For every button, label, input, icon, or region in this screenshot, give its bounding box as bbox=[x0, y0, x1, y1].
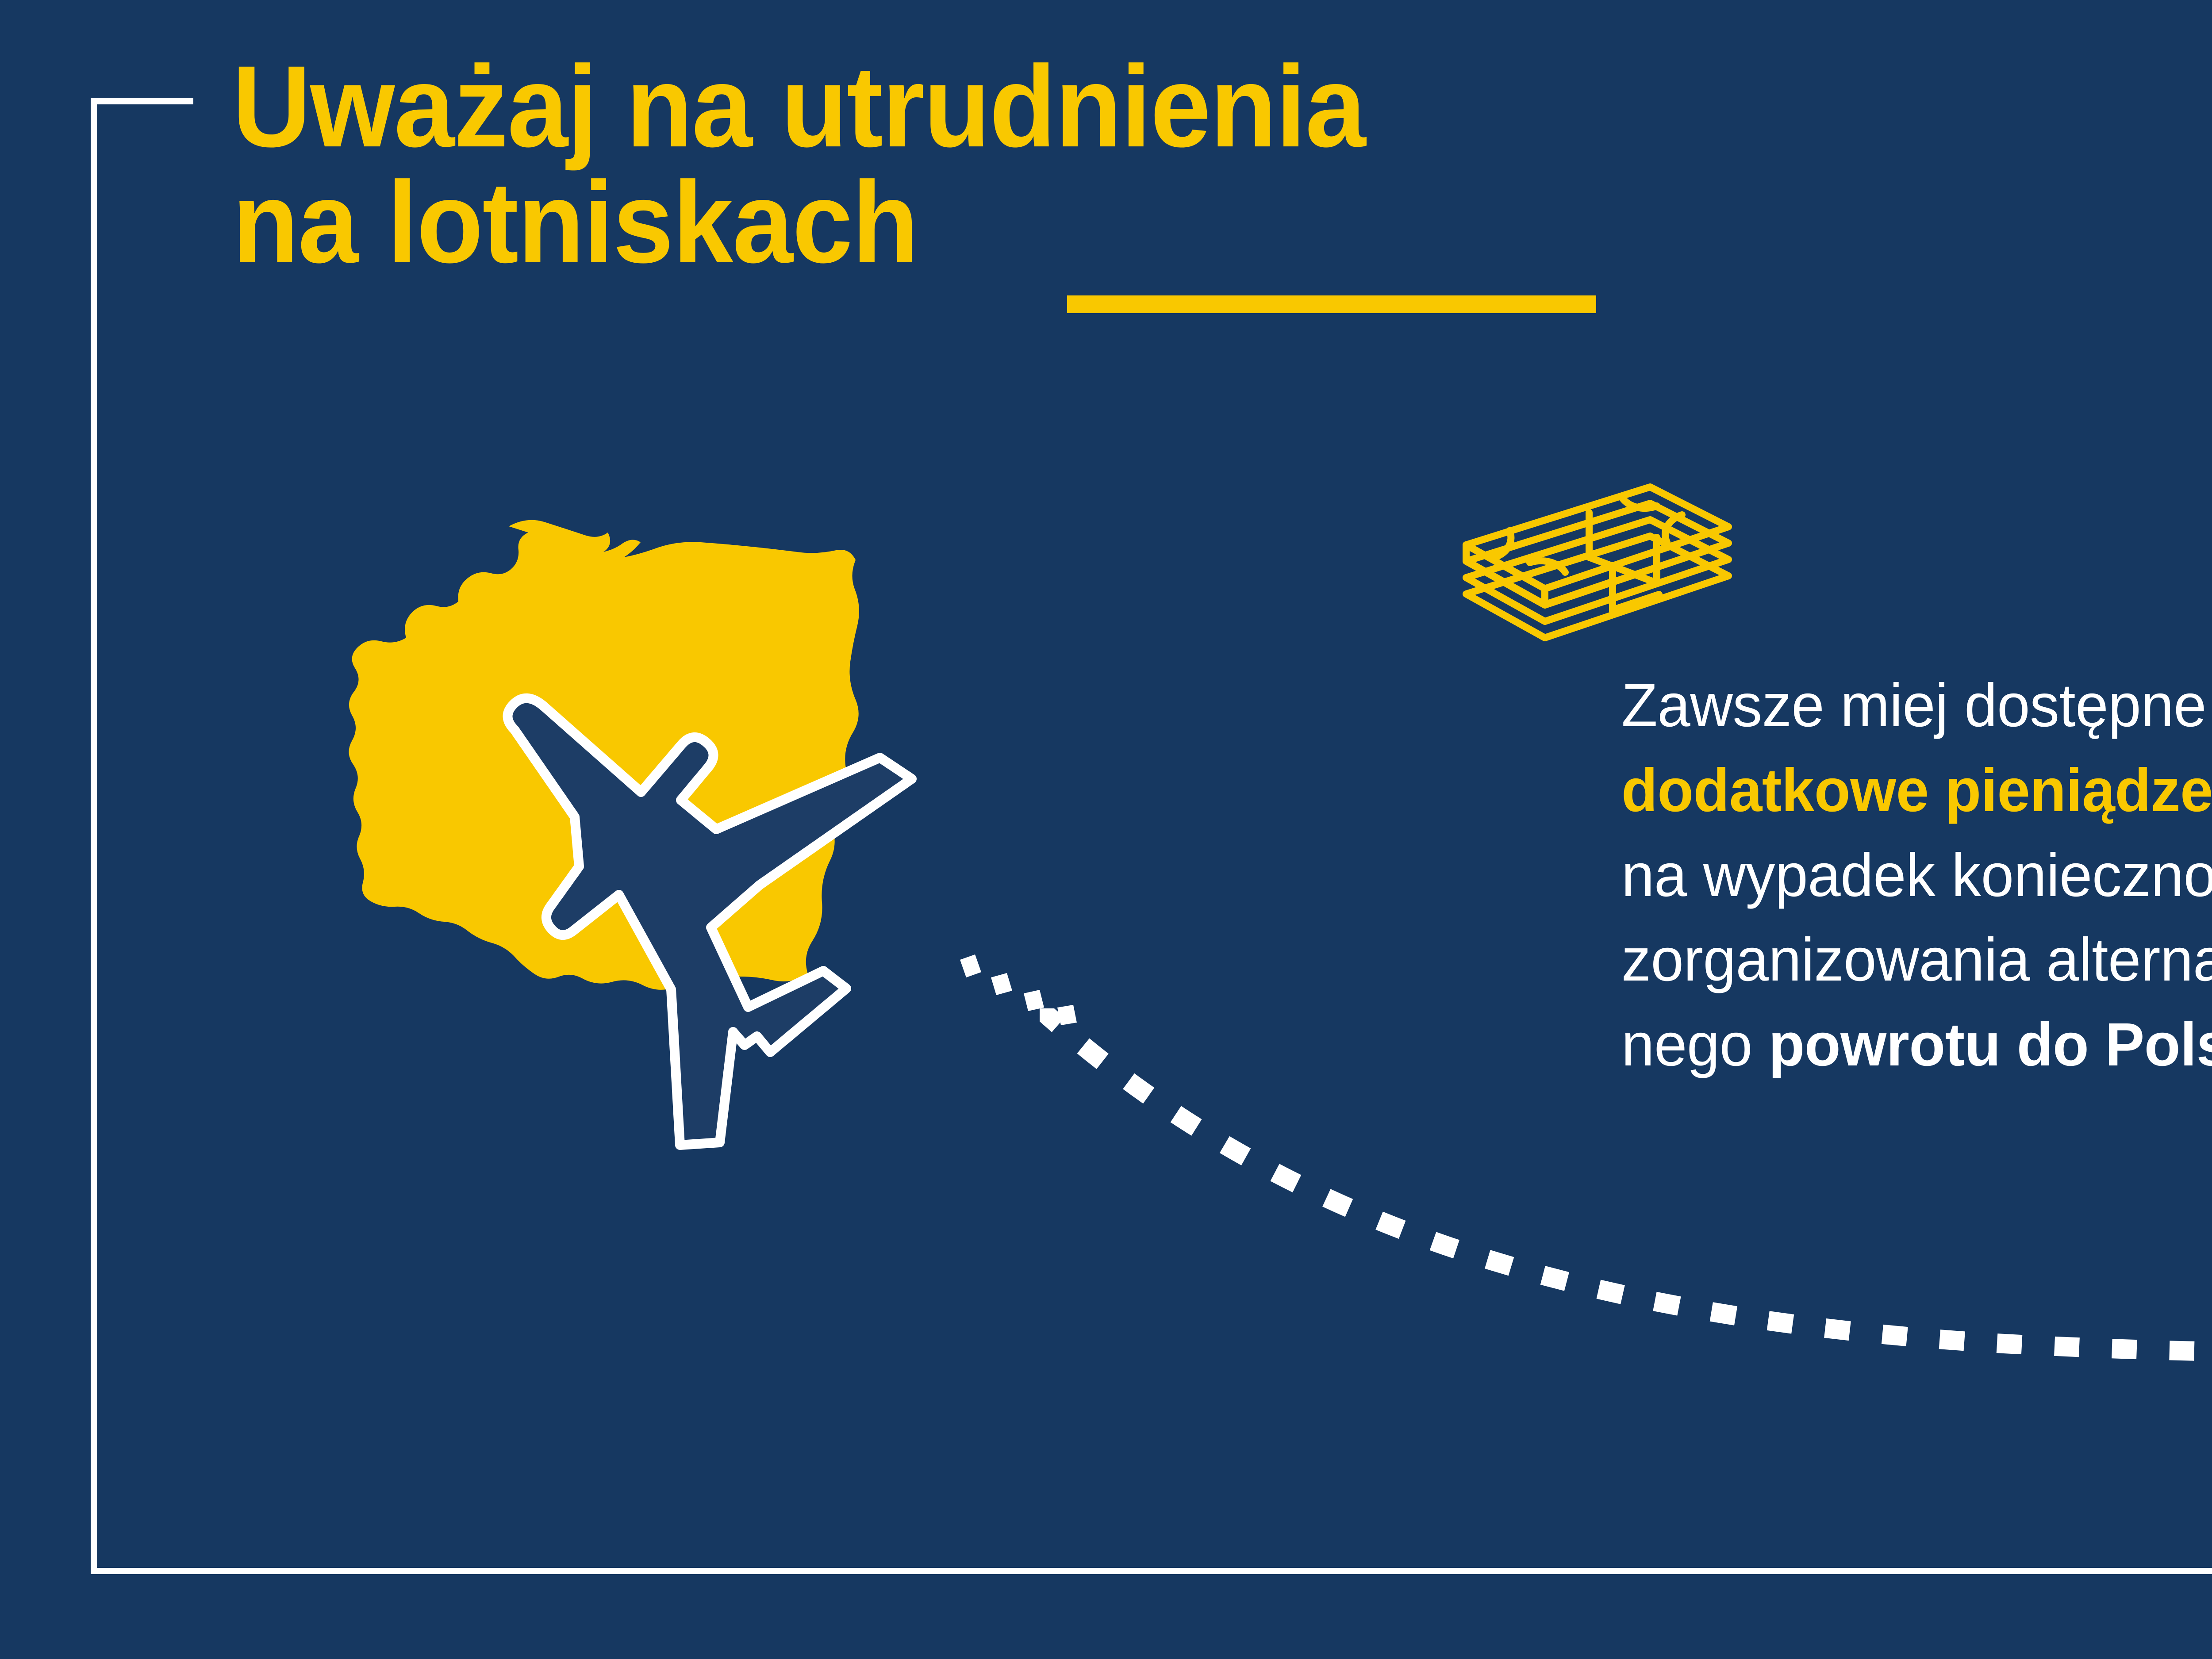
copy-line-3: na wypadek konieczności bbox=[1621, 833, 2212, 918]
banknote-stack-icon bbox=[1443, 482, 1735, 648]
airplane-icon bbox=[507, 698, 912, 1145]
copy-line-5-strong: powrotu do Polski bbox=[1769, 1011, 2212, 1079]
title-underline-rule bbox=[1067, 295, 1596, 313]
title-line-1: Uważaj na utrudnienia bbox=[232, 49, 1605, 165]
page-title: Uważaj na utrudnienia na lotniskach bbox=[232, 49, 1692, 280]
copy-line-5-prefix: nego bbox=[1621, 1011, 1769, 1079]
frame-top-edge bbox=[91, 98, 193, 104]
copy-line-5: nego powrotu do Polski bbox=[1621, 1003, 2212, 1088]
body-copy-block: Zawsze miej dostępne dodatkowe pieniądze… bbox=[1621, 663, 2212, 1088]
copy-line-4: zorganizowania alternatyw- bbox=[1621, 918, 2212, 1003]
title-line-2: na lotniskach bbox=[232, 165, 1605, 280]
frame-left-edge bbox=[91, 98, 97, 1574]
infographic-poster: Uważaj na utrudnienia na lotniskach bbox=[0, 0, 2212, 1659]
copy-line-1: Zawsze miej dostępne bbox=[1621, 663, 2212, 748]
frame-bottom-edge bbox=[91, 1568, 2212, 1574]
copy-line-2-accent: dodatkowe pieniądze bbox=[1621, 748, 2212, 833]
